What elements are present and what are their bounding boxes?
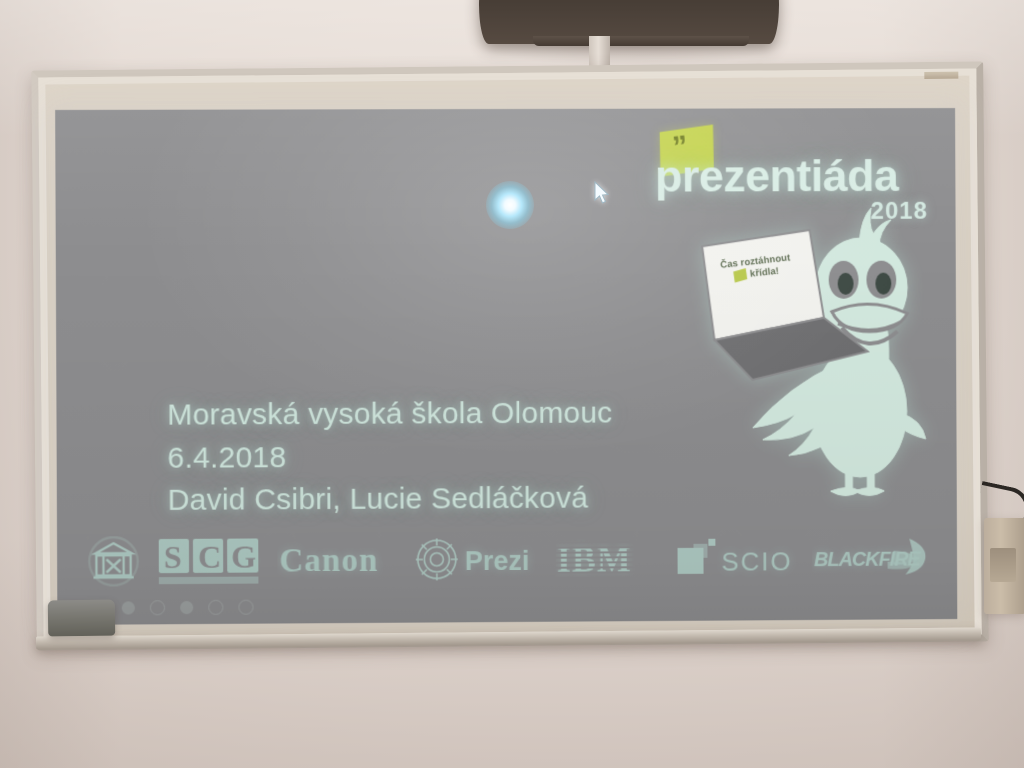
svg-text:BLACKFIRE: BLACKFIRE bbox=[814, 549, 921, 572]
slide-title-line-1: Moravská vysoká škola Olomouc bbox=[167, 393, 612, 438]
sponsor-logo-ibm: IBM bbox=[556, 531, 660, 586]
whiteboard: ” prezentiáda 2018 bbox=[34, 66, 986, 646]
projector-mount-arm bbox=[589, 36, 610, 68]
presenter-menu-button[interactable] bbox=[180, 601, 193, 614]
sponsor-logo-row: S C G Canon bbox=[57, 527, 957, 590]
classroom-scene: ” prezentiáda 2018 bbox=[0, 0, 1024, 768]
brand-year: 2018 bbox=[871, 200, 928, 224]
ceiling-projector bbox=[479, 0, 779, 44]
svg-text:Canon: Canon bbox=[279, 543, 378, 580]
slide-date: 6.4.2018 bbox=[167, 435, 612, 480]
svg-text:SCIO: SCIO bbox=[721, 546, 792, 576]
whiteboard-eraser[interactable] bbox=[48, 600, 115, 637]
sponsor-logo-blackfire: BLACKFIRE bbox=[812, 530, 929, 585]
presenter-zoom-button[interactable] bbox=[208, 600, 223, 615]
sponsor-logo-prezi: Prezi bbox=[415, 532, 541, 587]
whiteboard-corner-label bbox=[924, 72, 958, 79]
slide-authors: David Csibri, Lucie Sedláčková bbox=[168, 478, 613, 523]
svg-text:C: C bbox=[198, 539, 221, 575]
brand-wordmark: prezentiáda bbox=[655, 153, 899, 199]
projected-slide: ” prezentiáda 2018 bbox=[55, 108, 957, 625]
svg-text:G: G bbox=[231, 539, 256, 575]
duck-mascot: Čas roztáhnout křídla! bbox=[692, 200, 947, 500]
sponsor-logo-scg: S C G bbox=[157, 533, 262, 588]
presenter-more-button[interactable] bbox=[238, 600, 253, 615]
wall-mounted-bracket bbox=[984, 518, 1024, 614]
slide-title-block: Moravská vysoká škola Olomouc 6.4.2018 D… bbox=[167, 393, 613, 523]
sponsor-logo-university bbox=[85, 534, 142, 589]
sponsor-logo-scio: SCIO bbox=[675, 530, 797, 585]
svg-text:IBM: IBM bbox=[557, 539, 632, 578]
prezentiada-logo: ” prezentiáda 2018 bbox=[645, 126, 934, 232]
svg-text:Prezi: Prezi bbox=[465, 546, 530, 576]
presenter-prev-button[interactable] bbox=[150, 600, 165, 615]
svg-text:S: S bbox=[164, 539, 182, 575]
presenter-controls[interactable] bbox=[94, 600, 254, 616]
presenter-pen-button[interactable] bbox=[122, 601, 135, 614]
sponsor-logo-canon: Canon bbox=[277, 533, 400, 588]
